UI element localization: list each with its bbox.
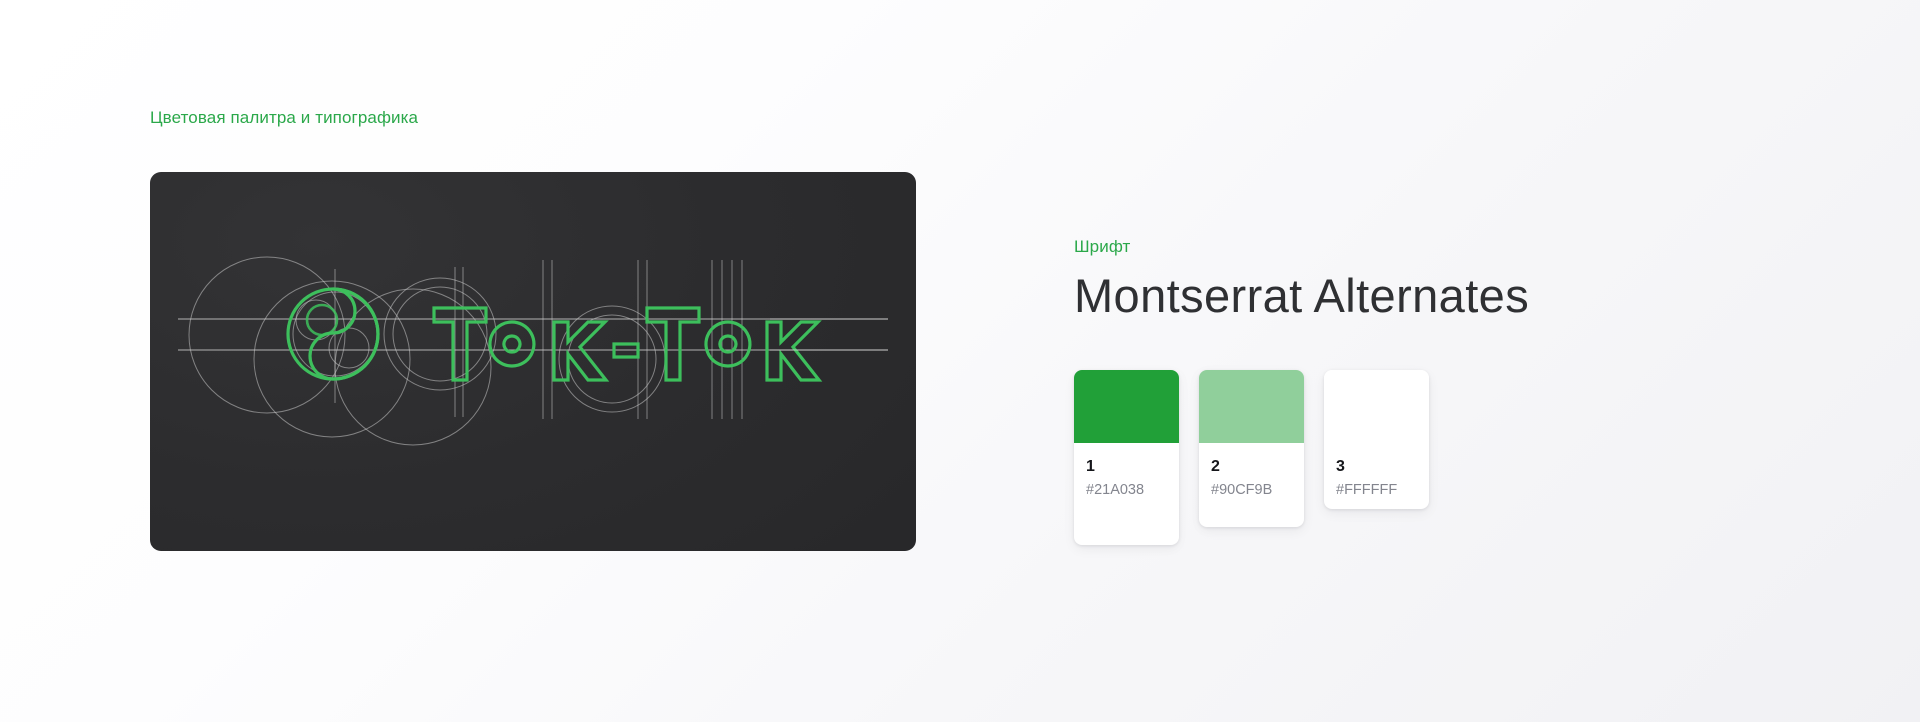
swatch-index: 2 — [1211, 457, 1292, 477]
color-swatch-card[interactable]: 3 #FFFFFF — [1324, 370, 1429, 509]
color-palette: 1 #21A038 2 #90CF9B 3 #FFFFFF — [1074, 370, 1429, 545]
logo-construction-drawing: .g { fill:none; stroke:#C9C9C9; stroke-w… — [150, 172, 916, 551]
color-swatch-card[interactable]: 2 #90CF9B — [1199, 370, 1304, 527]
swatch-color-chip — [1074, 370, 1179, 443]
swatch-index: 3 — [1336, 457, 1417, 477]
swatch-color-chip — [1199, 370, 1304, 443]
swatch-hex-value: #90CF9B — [1211, 481, 1292, 500]
swatch-meta: 1 #21A038 — [1074, 443, 1179, 500]
typography-block: Шрифт Montserrat Alternates — [1074, 236, 1774, 326]
logo-showcase-panel: .g { fill:none; stroke:#C9C9C9; stroke-w… — [150, 172, 916, 551]
page-title: Цветовая палитра и типографика — [150, 106, 418, 130]
swatch-index: 1 — [1086, 457, 1167, 477]
swatch-color-chip — [1324, 370, 1429, 443]
brand-guidelines-page: Цветовая палитра и типографика .g { fill… — [0, 0, 1920, 722]
swatch-meta: 2 #90CF9B — [1199, 443, 1304, 500]
font-name: Montserrat Alternates — [1074, 266, 1774, 326]
guide-circles — [189, 257, 665, 445]
color-swatch-card[interactable]: 1 #21A038 — [1074, 370, 1179, 545]
font-section-label: Шрифт — [1074, 236, 1774, 258]
swatch-hex-value: #FFFFFF — [1336, 481, 1417, 500]
swatch-meta: 3 #FFFFFF — [1324, 443, 1429, 500]
swatch-hex-value: #21A038 — [1086, 481, 1167, 500]
